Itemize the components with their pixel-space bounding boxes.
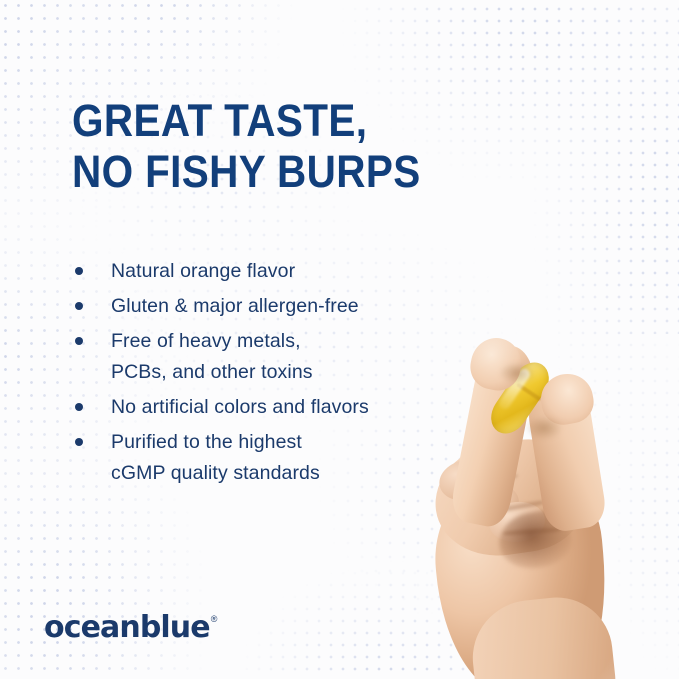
list-item-label: Natural orange flavor (111, 256, 472, 287)
list-item: Purified to the highest cGMP quality sta… (72, 427, 472, 489)
list-item-label: No artificial colors and flavors (111, 392, 472, 423)
brand-logo-wordmark: oceanblue (44, 612, 210, 644)
bullet-dot-icon (75, 267, 83, 275)
headline-line-2: NO FISHY BURPS (72, 146, 459, 197)
list-item: Gluten & major allergen-free (72, 291, 472, 322)
brand-logo: oceanblue ® (44, 612, 217, 644)
list-item-label: Free of heavy metals, PCBs, and other to… (111, 326, 472, 388)
benefits-list: Natural orange flavor Gluten & major all… (72, 256, 472, 493)
list-item-label: Purified to the highest cGMP quality sta… (111, 427, 472, 489)
list-item-label: Gluten & major allergen-free (111, 291, 472, 322)
headline-line-1: GREAT TASTE, (72, 95, 459, 146)
bullet-dot-icon (75, 403, 83, 411)
bullet-dot-icon (75, 337, 83, 345)
product-feature-panel: GREAT TASTE, NO FISHY BURPS Natural oran… (0, 0, 679, 679)
headline: GREAT TASTE, NO FISHY BURPS (72, 95, 502, 197)
registered-trademark-icon: ® (211, 615, 218, 624)
list-item: Free of heavy metals, PCBs, and other to… (72, 326, 472, 388)
bullet-dot-icon (75, 438, 83, 446)
list-item: No artificial colors and flavors (72, 392, 472, 423)
list-item: Natural orange flavor (72, 256, 472, 287)
bullet-dot-icon (75, 302, 83, 310)
